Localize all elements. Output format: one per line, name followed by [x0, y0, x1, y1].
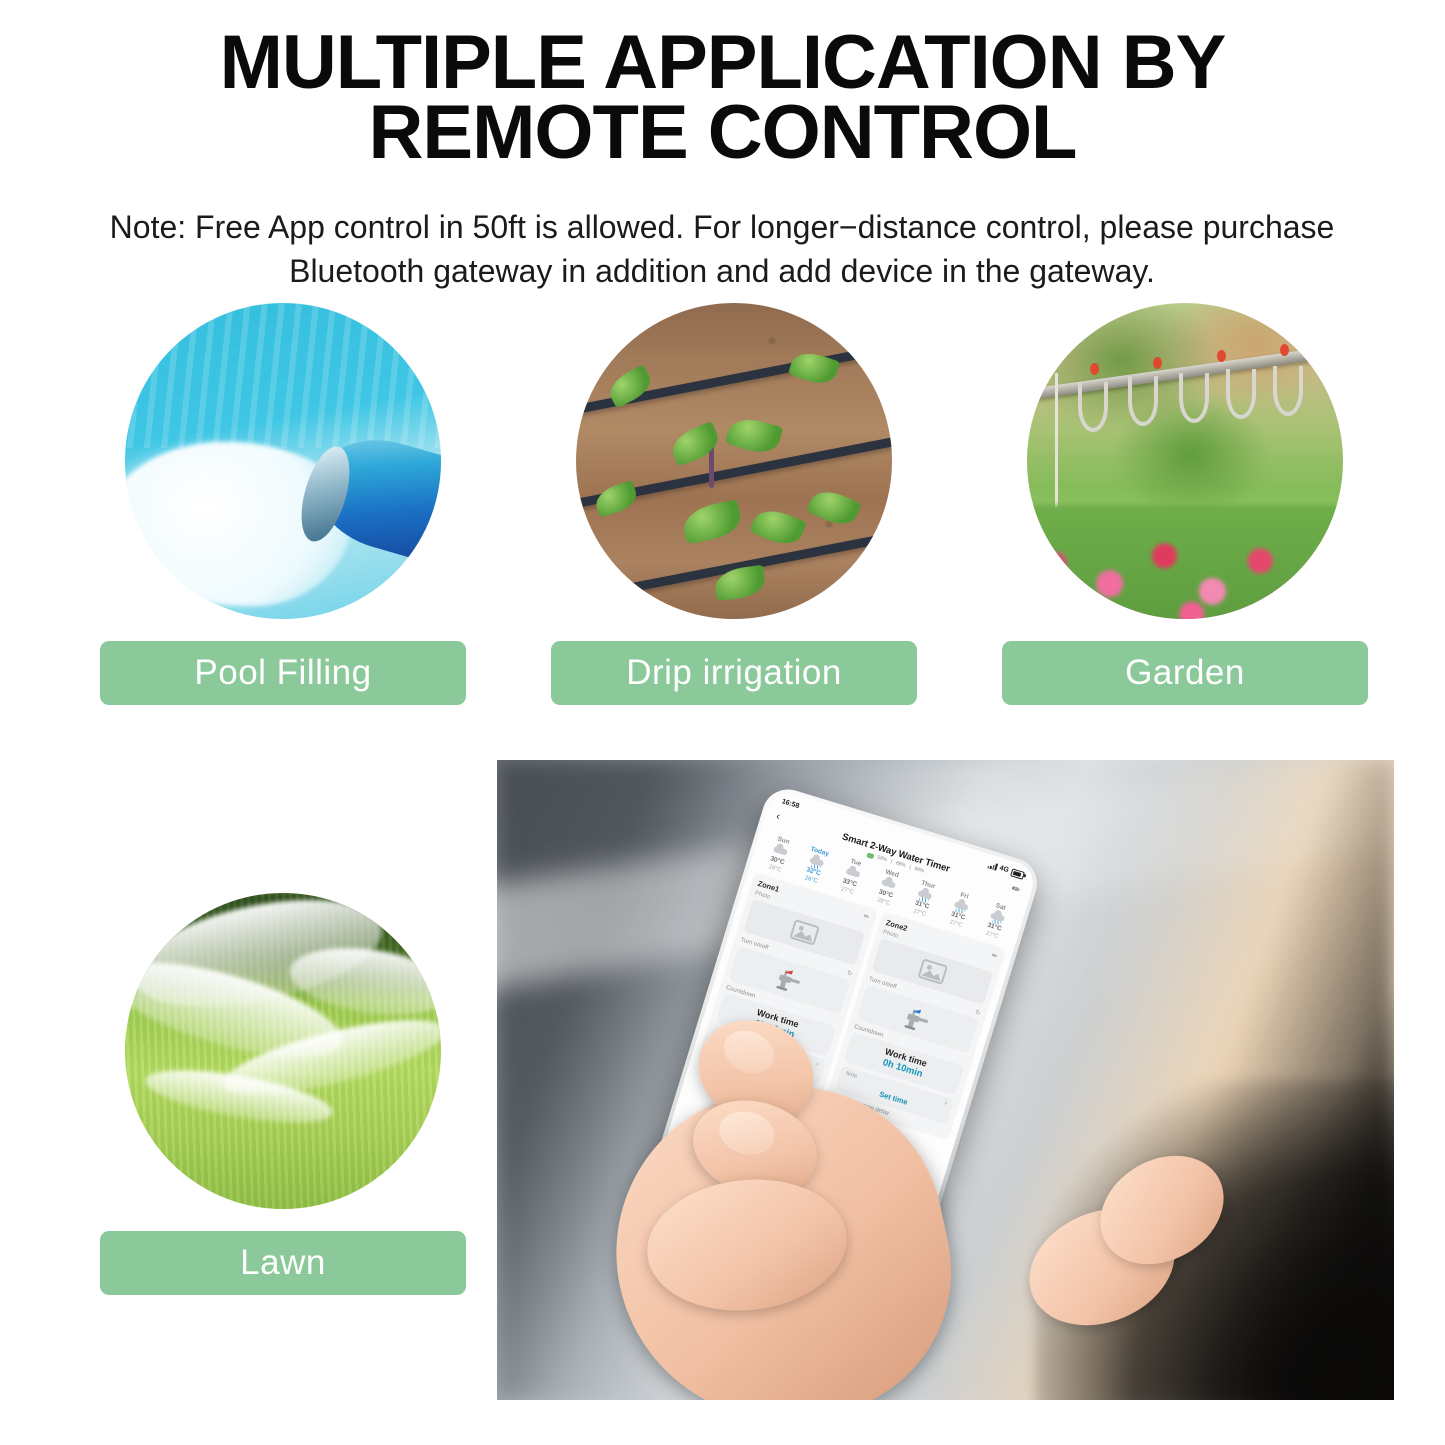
- refresh-icon[interactable]: ↻: [974, 1008, 982, 1017]
- rain-cloud-icon: [917, 888, 933, 902]
- drip-irrigation-image: [576, 303, 892, 619]
- weather-low: 27°C: [985, 931, 999, 941]
- chevron-right-icon[interactable]: ›: [943, 1100, 947, 1107]
- meta-divider-1: |: [890, 859, 893, 865]
- rain-cloud-icon: [989, 910, 1005, 924]
- mister-hook-1: [1078, 382, 1108, 432]
- use-case-label-garden: Garden: [1002, 641, 1368, 705]
- faucet-icon: [900, 1003, 936, 1035]
- use-case-label-drip-irrigation: Drip irrigation: [551, 641, 917, 705]
- chevron-right-icon[interactable]: ›: [815, 1061, 819, 1068]
- weather-day-today[interactable]: Today 32°C 26°C: [794, 843, 837, 887]
- lawn-image: [125, 893, 441, 1209]
- weather-low: 28°C: [768, 864, 782, 874]
- mister-hook-2: [1128, 376, 1158, 426]
- marketing-page: MULTIPLE APPLICATION BY REMOTE CONTROL N…: [0, 0, 1445, 1445]
- signal-bars-icon: [987, 861, 998, 870]
- lawn-art: [125, 893, 441, 1209]
- pencil-icon[interactable]: ✎: [863, 912, 872, 922]
- red-dripper-3: [1217, 350, 1226, 362]
- pencil-icon[interactable]: ✎: [1010, 883, 1023, 897]
- time-label: time: [845, 1070, 858, 1079]
- use-case-tile-lawn: Lawn: [100, 893, 466, 1295]
- use-case-tile-pool-filling: Pool Filling: [100, 303, 466, 705]
- faucet-icon: [772, 964, 808, 996]
- status-bar-time: 16:58: [781, 798, 800, 810]
- use-case-tile-drip-irrigation: Drip irrigation: [551, 303, 917, 705]
- garden-art: [1027, 303, 1343, 619]
- weather-day[interactable]: Tue 33°C 27°C: [830, 855, 873, 899]
- page-title-line-2: REMOTE CONTROL: [0, 98, 1445, 168]
- page-title: MULTIPLE APPLICATION BY REMOTE CONTROL: [0, 28, 1445, 168]
- soil-art: [576, 303, 892, 619]
- picture-icon: [789, 919, 820, 946]
- pool-filling-image: [125, 303, 441, 619]
- weather-low: 28°C: [876, 897, 890, 907]
- network-type-label: 4G: [999, 865, 1010, 874]
- weather-day[interactable]: Sat 31°C 27°C: [975, 899, 1018, 943]
- picture-icon: [917, 958, 948, 985]
- mister-hook-3: [1179, 373, 1209, 423]
- chevron-left-icon[interactable]: ‹: [775, 810, 782, 823]
- weather-day[interactable]: Thur 31°C 27°C: [903, 877, 946, 921]
- battery-icon: [1010, 868, 1025, 879]
- weather-low: 27°C: [913, 908, 927, 918]
- refresh-icon[interactable]: ↻: [846, 969, 854, 978]
- weather-low: 26°C: [804, 875, 818, 885]
- weather-day[interactable]: Sun 30°C 28°C: [758, 832, 801, 876]
- rain-cloud-icon: [808, 855, 824, 869]
- weather-low: 27°C: [949, 919, 963, 929]
- weather-low: 27°C: [840, 886, 854, 896]
- use-case-tile-garden: Garden: [1002, 303, 1368, 705]
- pool-water-art: [125, 303, 441, 619]
- rain-cloud-icon: [953, 899, 969, 913]
- weather-day[interactable]: Wed 30°C 28°C: [866, 866, 909, 910]
- garden-image: [1027, 303, 1343, 619]
- page-note: Note: Free App control in 50ft is allowe…: [72, 205, 1372, 293]
- meta-divider-2: |: [908, 864, 911, 870]
- red-dripper-4: [1280, 344, 1289, 356]
- water-ripple-texture: [125, 303, 441, 448]
- use-case-label-lawn: Lawn: [100, 1231, 466, 1295]
- use-case-label-pool-filling: Pool Filling: [100, 641, 466, 705]
- pencil-icon[interactable]: ✎: [991, 951, 1000, 961]
- flower-bed: [1027, 505, 1343, 619]
- hand-holding-phone-photo: 16:58 4G ‹ Smart 2-Way Water Timer ✎ 58%: [497, 760, 1394, 1400]
- weather-day[interactable]: Fri 31°C 27°C: [939, 888, 982, 932]
